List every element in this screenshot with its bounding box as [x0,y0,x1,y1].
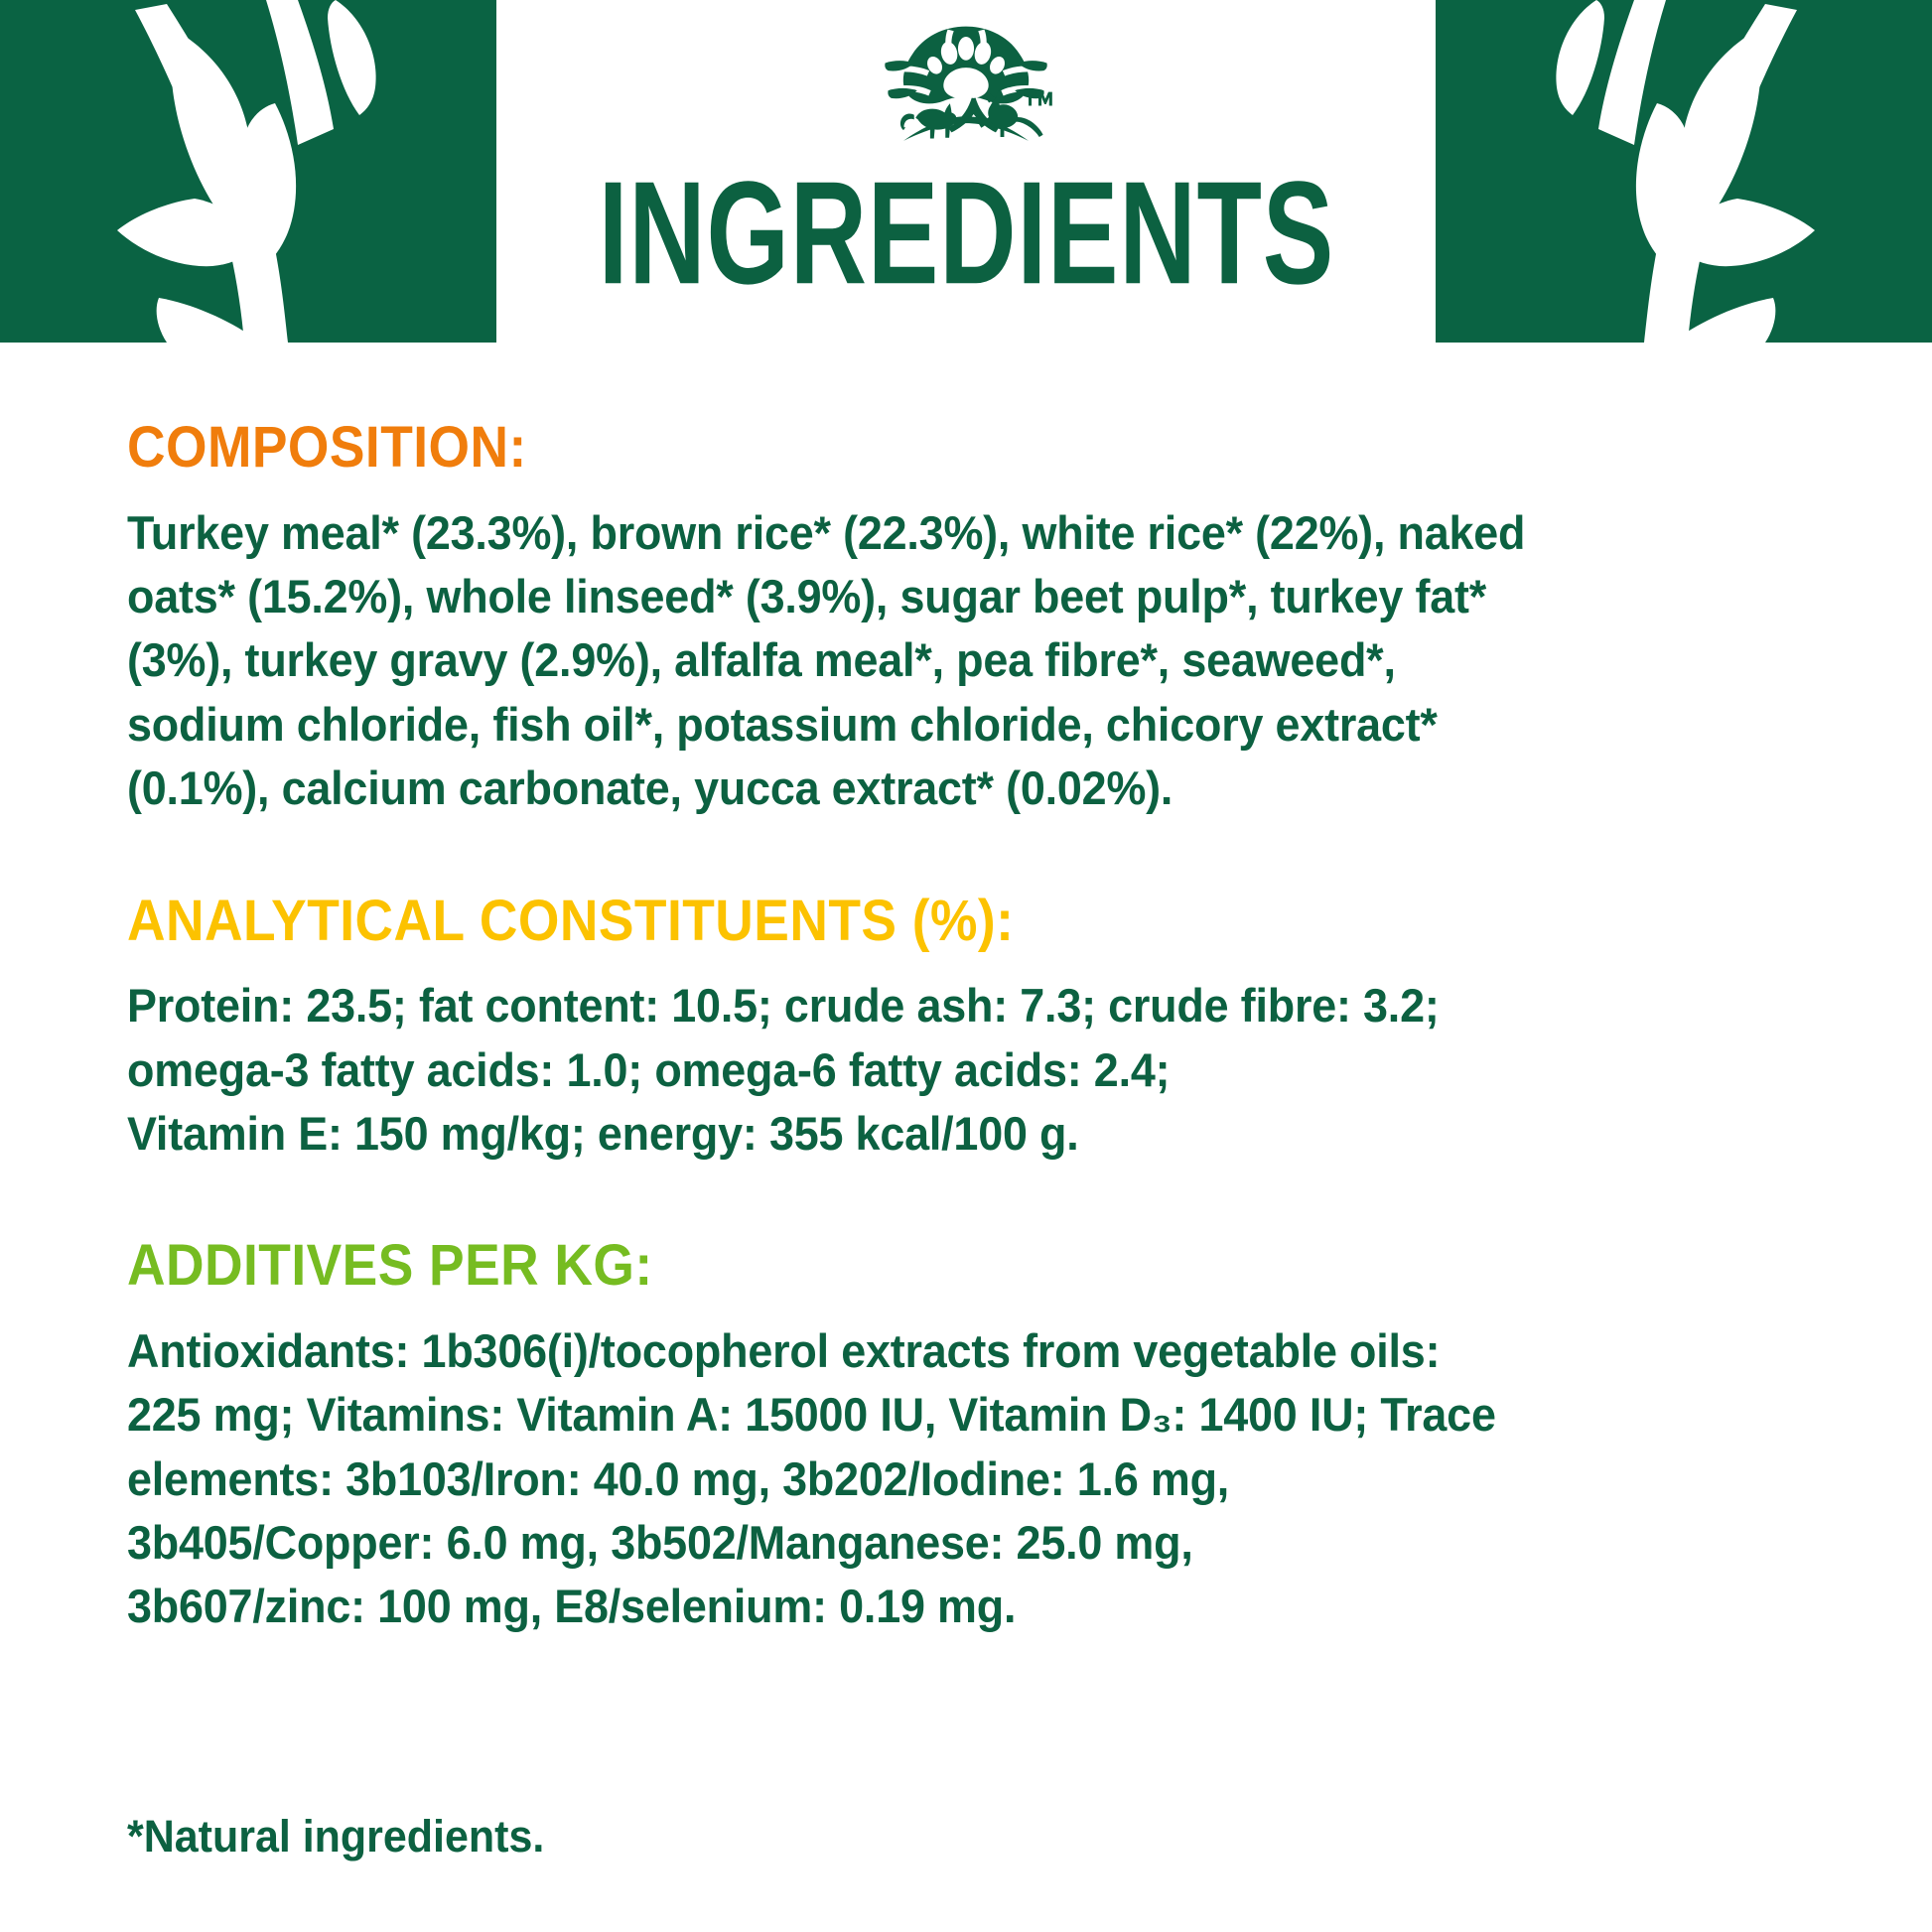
additives-line-4: 3b405/Copper: 6.0 mg, 3b502/Manganese: 2… [127,1511,1737,1575]
spacer-after-composition [127,829,1813,891]
composition-line-4: sodium chloride, fish oil*, potassium ch… [127,693,1737,757]
composition-heading: COMPOSITION: [127,417,1678,480]
footnote-wrap: *Natural ingredients. [127,1808,1813,1866]
composition-line-1: Turkey meal* (23.3%), brown rice* (22.3%… [127,501,1737,565]
analytical-line-3: Vitamin E: 150 mg/kg; energy: 355 kcal/1… [127,1102,1737,1166]
ingredients-content: COMPOSITION: Turkey meal* (23.3%), brown… [127,417,1813,1865]
composition-line-5: (0.1%), calcium carbonate, yucca extract… [127,757,1737,820]
additives-line-2: 225 mg; Vitamins: Vitamin A: 15000 IU, V… [127,1383,1737,1447]
section-additives-per-kg: ADDITIVES PER KG: Antioxidants: 1b306(i)… [127,1235,1813,1639]
header: INGREDIENTS [0,0,1932,343]
section-composition: COMPOSITION: Turkey meal* (23.3%), brown… [127,417,1813,821]
analytical-line-2: omega-3 fatty acids: 1.0; omega-6 fatty … [127,1038,1737,1102]
additives-text: Antioxidants: 1b306(i)/tocopherol extrac… [127,1319,1737,1639]
additives-line-5: 3b607/zinc: 100 mg, E8/selenium: 0.19 mg… [127,1575,1737,1638]
page-title: INGREDIENTS [598,161,1333,307]
ingredients-panel: INGREDIENTS COMPOSITION: Turkey meal* (2… [0,0,1932,1932]
natural-ingredients-footnote: *Natural ingredients. [127,1808,1737,1866]
additives-line-3: elements: 3b103/Iron: 40.0 mg, 3b202/Iod… [127,1448,1737,1511]
analytical-line-1: Protein: 23.5; fat content: 10.5; crude … [127,974,1737,1037]
analytical-constituents-heading: ANALYTICAL CONSTITUENTS (%): [127,891,1678,953]
tree-paw-cat-dog-logo [874,22,1058,147]
additives-heading: ADDITIVES PER KG: [127,1235,1678,1298]
composition-text: Turkey meal* (23.3%), brown rice* (22.3%… [127,501,1737,821]
analytical-constituents-text: Protein: 23.5; fat content: 10.5; crude … [127,974,1737,1166]
additives-line-1: Antioxidants: 1b306(i)/tocopherol extrac… [127,1319,1737,1383]
spacer-after-analytical [127,1173,1813,1235]
composition-line-2: oats* (15.2%), whole linseed* (3.9%), su… [127,565,1737,628]
composition-line-3: (3%), turkey gravy (2.9%), alfalfa meal*… [127,628,1737,692]
section-analytical-constituents: ANALYTICAL CONSTITUENTS (%): Protein: 23… [127,891,1813,1167]
